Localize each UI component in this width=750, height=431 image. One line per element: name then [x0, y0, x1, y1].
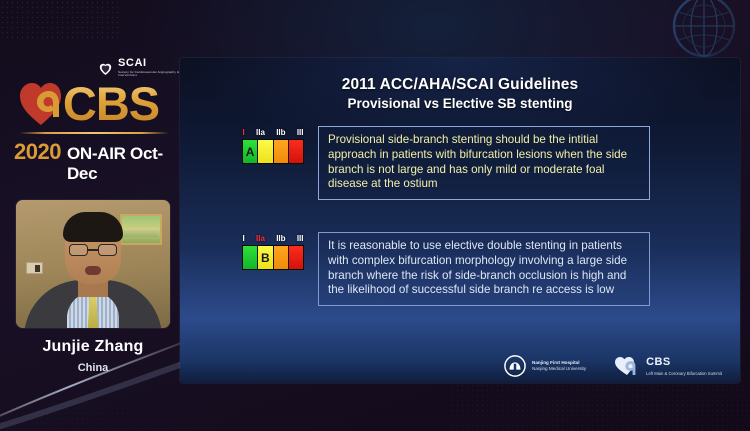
cor-label-iii: III [296, 235, 304, 243]
level-of-evidence-1: A [243, 145, 257, 159]
cbs-brand-lockup: CBS 2020 ON-AIR Oct-Dec [14, 76, 174, 184]
cbs-divider [19, 132, 169, 134]
cbs-tagline: ON-AIR Oct-Dec [67, 144, 174, 184]
cbs-year: 2020 [14, 139, 61, 165]
cor-bar-red [289, 246, 303, 269]
cor-label-i: I [242, 235, 245, 243]
wall-switch [26, 262, 43, 274]
cbs-footer-wordmark: CBS [646, 356, 722, 370]
cor-bar-yellow: B [258, 246, 273, 269]
slide-subtitle: Provisional vs Elective SB stenting [180, 96, 740, 111]
presenter-name: Junjie Zhang [0, 338, 186, 356]
nanjing-hospital-logo: Nanjing First Hospital Nanjing Medical U… [504, 355, 586, 377]
presenter-mouth [85, 266, 101, 275]
cor-bar-green: A [243, 140, 258, 163]
cor-label-iib: IIb [276, 129, 286, 137]
cor-label-iii: III [296, 129, 304, 137]
slide-title: 2011 ACC/AHA/SCAI Guidelines [180, 76, 740, 94]
wall-painting [120, 214, 162, 245]
nanjing-hospital-mark-icon [504, 355, 526, 377]
presentation-slide[interactable]: 2011 ACC/AHA/SCAI Guidelines Provisional… [180, 58, 740, 383]
broadcast-stage: SCAI Society for Cardiovascular Angiogra… [0, 0, 750, 431]
cor-bar-red [289, 140, 303, 163]
recommendation-text-box-2: It is reasonable to use elective double … [318, 232, 650, 306]
glasses-left-lens [69, 244, 88, 256]
cbs-mark-icon [614, 356, 640, 376]
recommendation-text-1: Provisional side-branch stenting should … [328, 133, 640, 192]
class-of-recommendation-icon-2: I IIa IIb III B [242, 232, 304, 270]
class-of-recommendation-icon-1: I IIa IIb III A [242, 126, 304, 164]
cbs-footer-tagline: Left Main & Coronary Bifurcation Summit [646, 371, 722, 376]
cbs-footer-logo: CBS Left Main & Coronary Bifurcation Sum… [614, 356, 722, 376]
cor-bar-green [243, 246, 258, 269]
cor-label-i: I [242, 129, 245, 137]
presenter-country: China [0, 362, 186, 374]
scai-name: SCAI [118, 58, 182, 69]
scai-heart-icon [97, 60, 114, 77]
glasses-right-lens [98, 244, 117, 256]
event-sidebar: SCAI Society for Cardiovascular Angiogra… [0, 0, 186, 431]
slide-footer-logos: Nanjing First Hospital Nanjing Medical U… [180, 355, 740, 377]
cor-bar-yellow [258, 140, 273, 163]
cor-label-iia: IIa [256, 235, 266, 243]
presenter-hair [63, 212, 123, 242]
recommendation-text-2: It is reasonable to use elective double … [328, 239, 640, 298]
cbs-wordmark: CBS [63, 76, 159, 131]
recommendation-text-box-1: Provisional side-branch stenting should … [318, 126, 650, 200]
recommendation-row-2: I IIa IIb III B It is reasonable to use … [242, 232, 650, 306]
cor-label-iib: IIb [276, 235, 286, 243]
recommendation-row-1: I IIa IIb III A Provisional side-branch … [242, 126, 650, 200]
cor-bar-orange [274, 140, 289, 163]
cor-bar-orange [274, 246, 289, 269]
level-of-evidence-2: B [258, 251, 272, 265]
glasses-bridge [88, 249, 98, 251]
cbs-heart-icon [18, 79, 64, 127]
presenter-video-feed[interactable] [16, 200, 170, 328]
nanjing-logo-line2: Nanjing Medical University [532, 366, 586, 372]
cor-label-iia: IIa [256, 129, 266, 137]
